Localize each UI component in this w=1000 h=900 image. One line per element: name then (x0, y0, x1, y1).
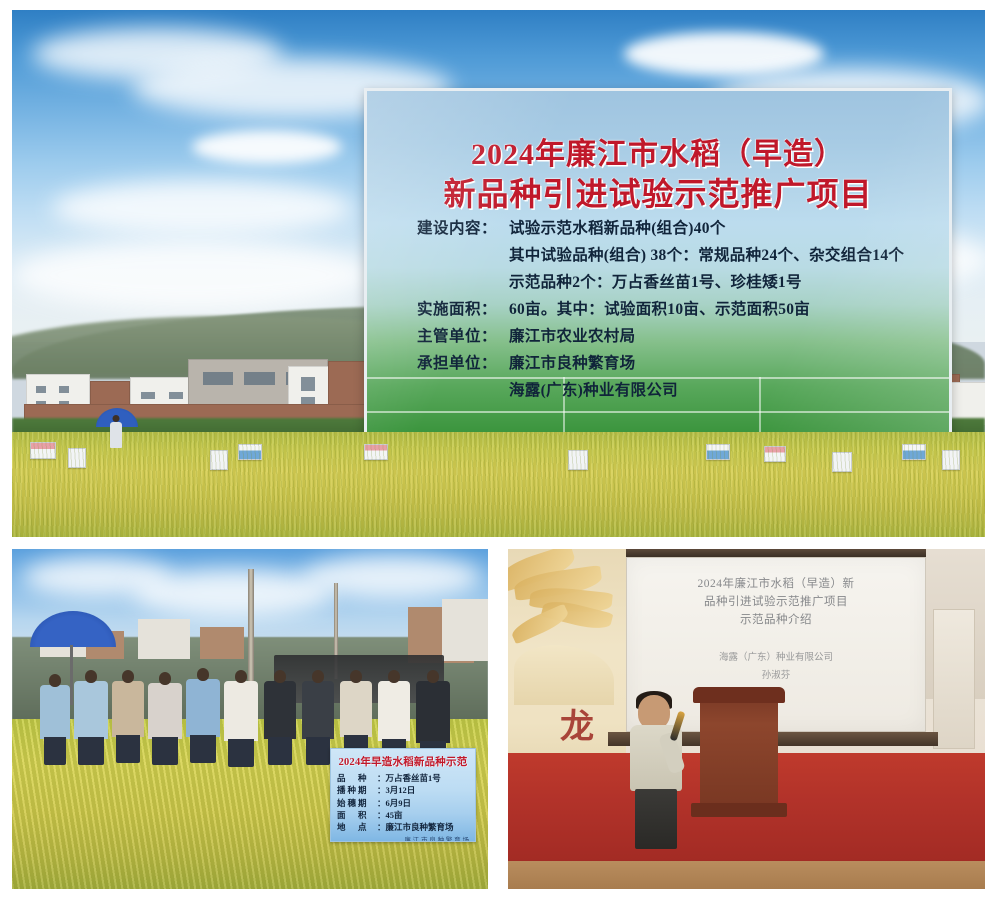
billboard-row-value: 示范品种2个：万占香丝苗1号、珍桂矮1号 (509, 273, 802, 294)
person (74, 681, 108, 739)
person-in-field (110, 422, 122, 448)
billboard-row-label: 主管单位： (417, 327, 509, 348)
field-inspection-photo: 2024年早造水稻新品种示范 品 种 ：万占香丝苗1号 播种期 ：3月12日 始… (12, 549, 488, 889)
billboard-row-value: 海露(广东)种业有限公司 (509, 381, 678, 402)
billboard-body: 建设内容： 试验示范水稻新品种(组合)40个 建设内容： 其中试验品种(组合) … (417, 219, 923, 407)
cloud-shape (302, 555, 482, 599)
billboard-row-label: 建设内容： (417, 219, 509, 240)
sign-row-value: ：廉江市良种繁育场 (377, 821, 454, 833)
hall-floor (508, 861, 985, 889)
person (416, 681, 450, 743)
sign-row-value: ：万占香丝苗1号 (377, 772, 441, 784)
billboard-row: 建设内容： 其中试验品种(组合) 38个：常规品种24个、杂交组合14个 (417, 246, 923, 267)
field-marker-sign (364, 444, 388, 460)
screen-mount (626, 549, 926, 557)
indoor-presentation-photo: 龙 2024年廉江市水稻（早造）新 品种引进试验示范推广项目 示范品种介绍 海露… (508, 549, 985, 889)
sign-row-key: 播种期 (337, 784, 377, 796)
demonstration-plot-sign: 2024年早造水稻新品种示范 品 种 ：万占香丝苗1号 播种期 ：3月12日 始… (330, 748, 476, 842)
sign-row-key: 面 积 (337, 809, 377, 821)
billboard-row-value: 60亩。其中：试验面积10亩、示范面积50亩 (509, 300, 810, 321)
billboard-row: 主管单位： 廉江市农业农村局 (417, 327, 923, 348)
podium (700, 697, 778, 805)
sign-row-value: ：6月9日 (377, 797, 411, 809)
field-marker-sign (902, 444, 926, 460)
billboard-title-line-2: 新品种引进试验示范推广项目 (367, 169, 949, 215)
person (224, 681, 258, 741)
person (40, 685, 70, 739)
sign-row: 面 积 ：45亩 (337, 809, 469, 821)
sign-row-value: ：3月12日 (377, 784, 415, 796)
speaker-person (630, 725, 682, 837)
building (442, 599, 488, 661)
sign-row: 品 种 ：万占香丝苗1号 (337, 772, 469, 784)
billboard-row: 建设内容： 试验示范水稻新品种(组合)40个 (417, 219, 923, 240)
cloud-shape (12, 240, 372, 310)
slide-presenter-name: 孙淑芬 (637, 669, 915, 684)
person (302, 681, 334, 739)
field-marker-sign (210, 450, 228, 470)
field-marker-sign (238, 444, 262, 460)
person (148, 683, 182, 739)
cloud-shape (192, 130, 342, 164)
slide-title-line: 品种引进试验示范推广项目 (637, 594, 915, 612)
person (378, 681, 410, 741)
person (112, 681, 144, 737)
billboard-row: 承担单位： 廉江市良种繁育场 (417, 354, 923, 375)
field-marker-sign (30, 442, 56, 459)
field-marker-sign (568, 450, 588, 470)
sign-row-key: 品 种 (337, 772, 377, 784)
billboard-row-value: 廉江市良种繁育场 (509, 354, 635, 375)
legs (635, 789, 677, 849)
billboard-row-label: 实施面积： (417, 300, 509, 321)
field-marker-sign (68, 448, 86, 468)
sign-row: 播种期 ：3月12日 (337, 784, 469, 796)
billboard-row: 承担单位： 海露(广东)种业有限公司 (417, 381, 923, 402)
field-marker-sign (706, 444, 730, 460)
umbrella-pole (70, 645, 73, 705)
sign-row-key: 始穗期 (337, 797, 377, 809)
billboard-row-label: 承担单位： (417, 354, 509, 375)
sign-footer-line: 廉 江 市 良 种 繁 育 场 (337, 837, 469, 842)
rice-field (12, 432, 985, 537)
photo-collage-page: 2024年廉江市水稻（早造） 新品种引进试验示范推广项目 建设内容： 试验示范水… (0, 0, 1000, 900)
field-marker-sign (764, 446, 786, 462)
billboard-row-value: 廉江市农业农村局 (509, 327, 635, 348)
slide-content: 2024年廉江市水稻（早造）新 品种引进试验示范推广项目 示范品种介绍 海露（广… (637, 576, 915, 684)
sign-row-value: ：45亩 (377, 809, 403, 821)
building (138, 619, 190, 659)
field-marker-sign (942, 450, 960, 470)
cloud-shape (52, 180, 352, 236)
sign-row: 地 点 ：廉江市良种繁育场 (337, 821, 469, 833)
sign-title: 2024年早造水稻新品种示范 (337, 754, 469, 769)
project-billboard: 2024年廉江市水稻（早造） 新品种引进试验示范推广项目 建设内容： 试验示范水… (364, 88, 952, 462)
billboard-row-value: 其中试验品种(组合) 38个：常规品种24个、杂交组合14个 (509, 246, 904, 267)
side-door (933, 609, 975, 749)
rice-field-billboard-photo: 2024年廉江市水稻（早造） 新品种引进试验示范推广项目 建设内容： 试验示范水… (12, 10, 985, 537)
sign-row: 始穗期 ：6月9日 (337, 797, 469, 809)
slide-title-line: 2024年廉江市水稻（早造）新 (637, 576, 915, 594)
person (186, 679, 220, 737)
billboard-row: 实施面积： 60亩。其中：试验面积10亩、示范面积50亩 (417, 300, 923, 321)
person (340, 681, 372, 737)
cloud-shape (624, 32, 824, 76)
sign-footer: 廉 江 市 良 种 繁 育 场 海露（广东）种业有限公司 (337, 837, 469, 842)
person (264, 681, 296, 739)
utility-pole (248, 569, 254, 699)
slide-subtitle-line: 海露（广东）种业有限公司 (637, 651, 915, 666)
head (638, 695, 670, 729)
slide-title-line: 示范品种介绍 (637, 612, 915, 630)
dragon-character: 龙 (560, 699, 594, 748)
billboard-row: 建设内容： 示范品种2个：万占香丝苗1号、珍桂矮1号 (417, 273, 923, 294)
sign-row-key: 地 点 (337, 821, 377, 833)
billboard-row-value: 试验示范水稻新品种(组合)40个 (509, 219, 726, 240)
billboard-title-line-1: 2024年廉江市水稻（早造） (367, 129, 949, 173)
field-marker-sign (832, 452, 852, 472)
building (200, 627, 244, 659)
